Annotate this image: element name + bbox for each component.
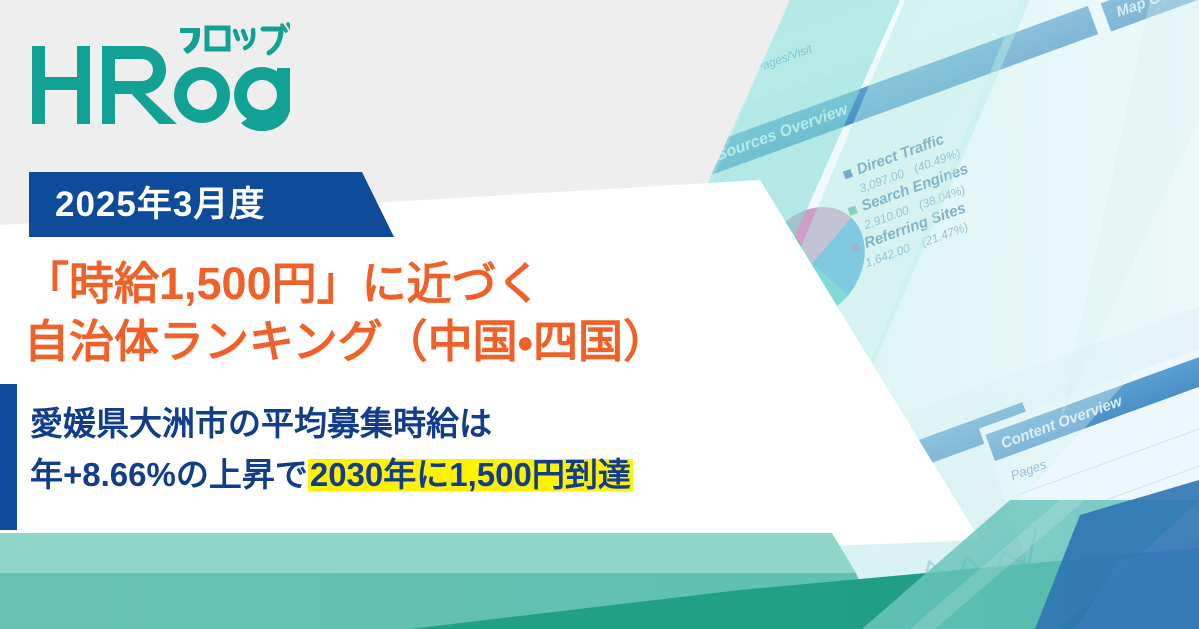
subtitle: 愛媛県大洲市の平均募集時給は 年+8.66%の上昇で2030年に1,500円到達 bbox=[30, 398, 930, 500]
subtitle-line-1: 愛媛県大洲市の平均募集時給は bbox=[30, 398, 930, 449]
headline-line-1: 「時給1,500円」に近づく bbox=[24, 255, 764, 313]
headline-line-2: 自治体ランキング（中国・四国） bbox=[24, 313, 764, 371]
page-title: 「時給1,500円」に近づく 自治体ランキング（中国・四国） bbox=[24, 255, 764, 370]
banner-canvas: 3.32 Pages/Visit Traffic Sources Overvie… bbox=[0, 0, 1199, 629]
period-badge: 2025年3月度 bbox=[29, 172, 394, 237]
period-badge-label: 2025年3月度 bbox=[29, 187, 265, 222]
subtitle-line-2-prefix: 年+8.66%の上昇で bbox=[30, 456, 308, 493]
subtitle-highlight: 2030年に1,500円到達 bbox=[308, 456, 633, 493]
subtitle-line-2: 年+8.66%の上昇で2030年に1,500円到達 bbox=[30, 449, 930, 500]
subtitle-accent-bar bbox=[0, 384, 17, 530]
hrog-logo[interactable] bbox=[30, 22, 290, 132]
